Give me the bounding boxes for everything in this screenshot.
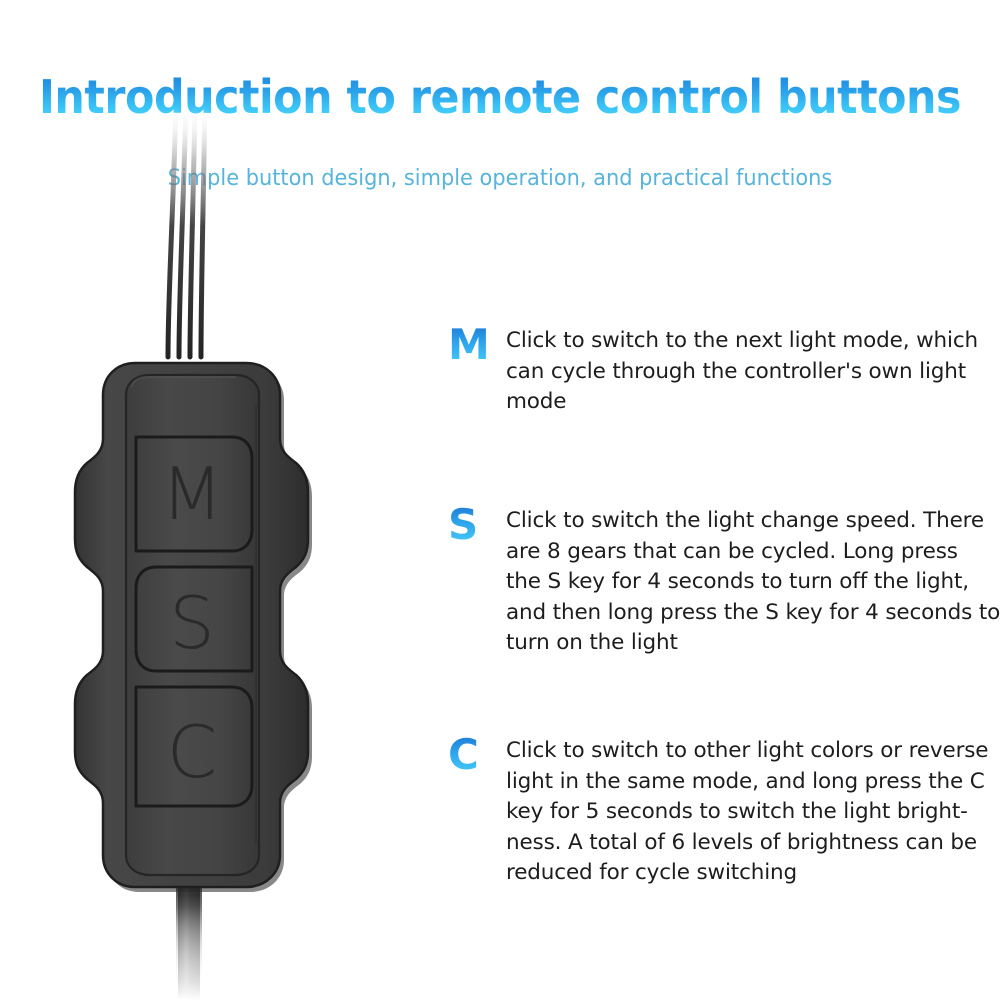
legend-key-c: C <box>448 736 506 775</box>
button-c-label: C <box>167 710 217 794</box>
legend-line: and then long press the S key for 4 seco… <box>506 598 1000 629</box>
legend-description-m: Click to switch to the next light mode, … <box>506 326 978 418</box>
legend-line: Click to switch the light change speed. … <box>506 506 1000 537</box>
button-m[interactable]: M <box>136 437 252 551</box>
cable-fade-veil <box>158 895 224 1000</box>
button-s-label: S <box>169 581 215 665</box>
button-c[interactable]: C <box>136 687 252 806</box>
button-s[interactable]: S <box>136 567 252 671</box>
legend-line: mode <box>506 387 978 418</box>
legend-key-s: S <box>448 506 506 545</box>
legend-line: the S key for 4 seconds to turn off the … <box>506 567 1000 598</box>
legend-item-c: C Click to switch to other light colors … <box>448 736 948 889</box>
remote-controller-illustration: M S C <box>40 95 360 1000</box>
legend-item-m: M Click to switch to the next light mode… <box>448 326 948 418</box>
button-m-label: M <box>161 452 223 536</box>
legend-line: reduced for cycle switching <box>506 858 988 889</box>
legend-description-c: Click to switch to other light colors or… <box>506 736 988 889</box>
legend-line: are 8 gears that can be cycled. Long pre… <box>506 537 1000 568</box>
legend-key-m: M <box>448 326 506 365</box>
legend-line: key for 5 seconds to switch the light br… <box>506 797 988 828</box>
legend-description-s: Click to switch the light change speed. … <box>506 506 1000 659</box>
legend-line: Click to switch to other light colors or… <box>506 736 988 767</box>
legend-item-s: S Click to switch the light change speed… <box>448 506 948 659</box>
legend-line: can cycle through the controller's own l… <box>506 357 978 388</box>
legend-line: ness. A total of 6 levels of brightness … <box>506 828 988 859</box>
legend-line: light in the same mode, and long press t… <box>506 767 988 798</box>
top-cable-wires <box>168 105 205 357</box>
legend-line: Click to switch to the next light mode, … <box>506 326 978 357</box>
legend-line: turn on the light <box>506 628 1000 659</box>
